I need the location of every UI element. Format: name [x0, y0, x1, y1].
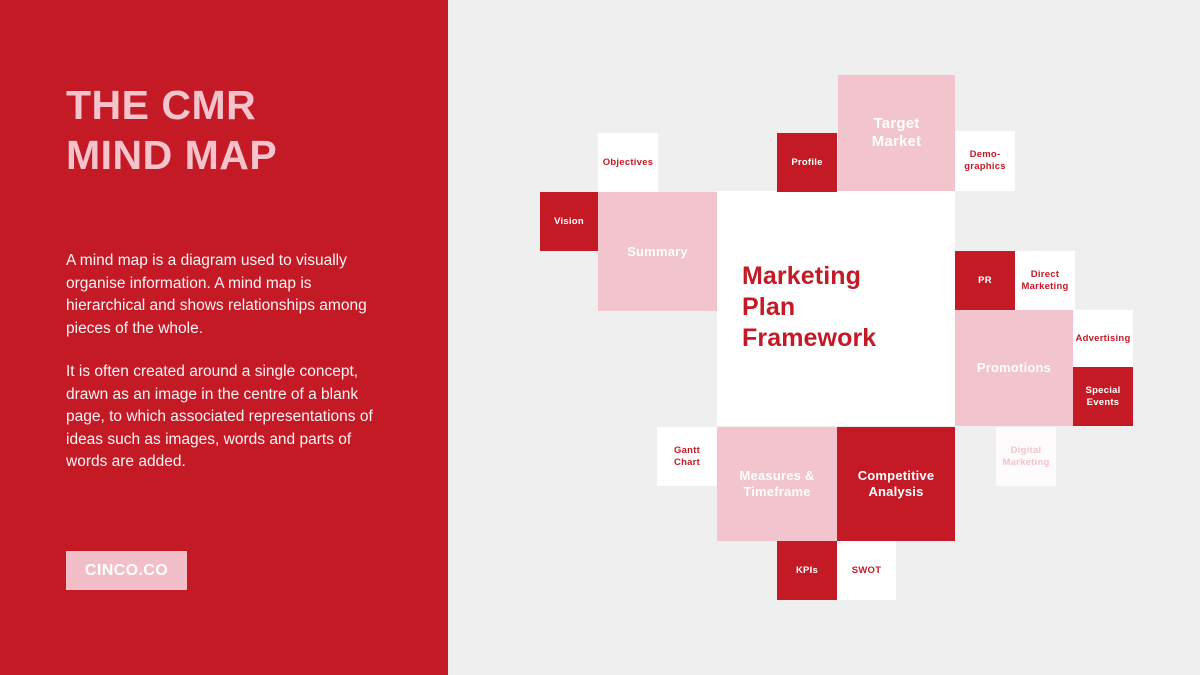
node-vision[interactable]: Vision [540, 192, 598, 251]
description-paragraph-2: It is often created around a single conc… [66, 361, 374, 474]
node-demographics[interactable]: Demo- graphics [955, 131, 1015, 191]
node-target-market[interactable]: Target Market [838, 75, 955, 191]
node-pr[interactable]: PR [955, 251, 1015, 310]
node-label: KPIs [796, 565, 818, 577]
node-measures-timeframe[interactable]: Measures & Timeframe [717, 427, 837, 541]
node-profile[interactable]: Profile [777, 133, 837, 192]
node-objectives[interactable]: Objectives [598, 133, 658, 192]
node-label: Demo- graphics [964, 149, 1006, 172]
node-competitive-analysis[interactable]: Competitive Analysis [837, 427, 955, 541]
brand-logo-text: CINCO.CO [85, 562, 168, 580]
node-label: Competitive Analysis [858, 468, 935, 500]
node-label: Gantt Chart [674, 445, 700, 468]
page-title: THE CMR MIND MAP [66, 80, 416, 180]
node-gantt-chart[interactable]: Gantt Chart [657, 427, 717, 486]
node-label: PR [978, 275, 992, 287]
node-summary[interactable]: Summary [598, 192, 717, 311]
node-promotions[interactable]: Promotions [955, 310, 1073, 426]
slide-canvas: THE CMR MIND MAP A mind map is a diagram… [0, 0, 1200, 675]
node-label: Measures & Timeframe [740, 468, 815, 500]
node-label: Advertising [1075, 333, 1130, 345]
mindmap-center-label: Marketing Plan Framework [742, 261, 942, 354]
description-paragraph-1: A mind map is a diagram used to visually… [66, 250, 374, 340]
node-label: Direct Marketing [1021, 269, 1068, 292]
node-kpis[interactable]: KPIs [777, 541, 837, 600]
node-label: SWOT [852, 565, 882, 577]
node-swot[interactable]: SWOT [837, 541, 896, 600]
node-label: Special Events [1085, 385, 1120, 408]
node-label: Profile [791, 157, 822, 169]
node-label: Target Market [872, 115, 922, 152]
node-label: Vision [554, 216, 584, 228]
node-label: Promotions [977, 360, 1051, 376]
left-info-panel: THE CMR MIND MAP A mind map is a diagram… [0, 0, 448, 675]
node-label: Digital Marketing [1002, 445, 1049, 468]
node-advertising[interactable]: Advertising [1073, 310, 1133, 367]
brand-logo-badge: CINCO.CO [66, 551, 187, 590]
node-special-events[interactable]: Special Events [1073, 367, 1133, 426]
node-label: Summary [627, 244, 688, 260]
node-label: Objectives [603, 157, 654, 169]
node-digital-marketing[interactable]: Digital Marketing [996, 427, 1056, 486]
node-direct-marketing[interactable]: Direct Marketing [1015, 251, 1075, 310]
